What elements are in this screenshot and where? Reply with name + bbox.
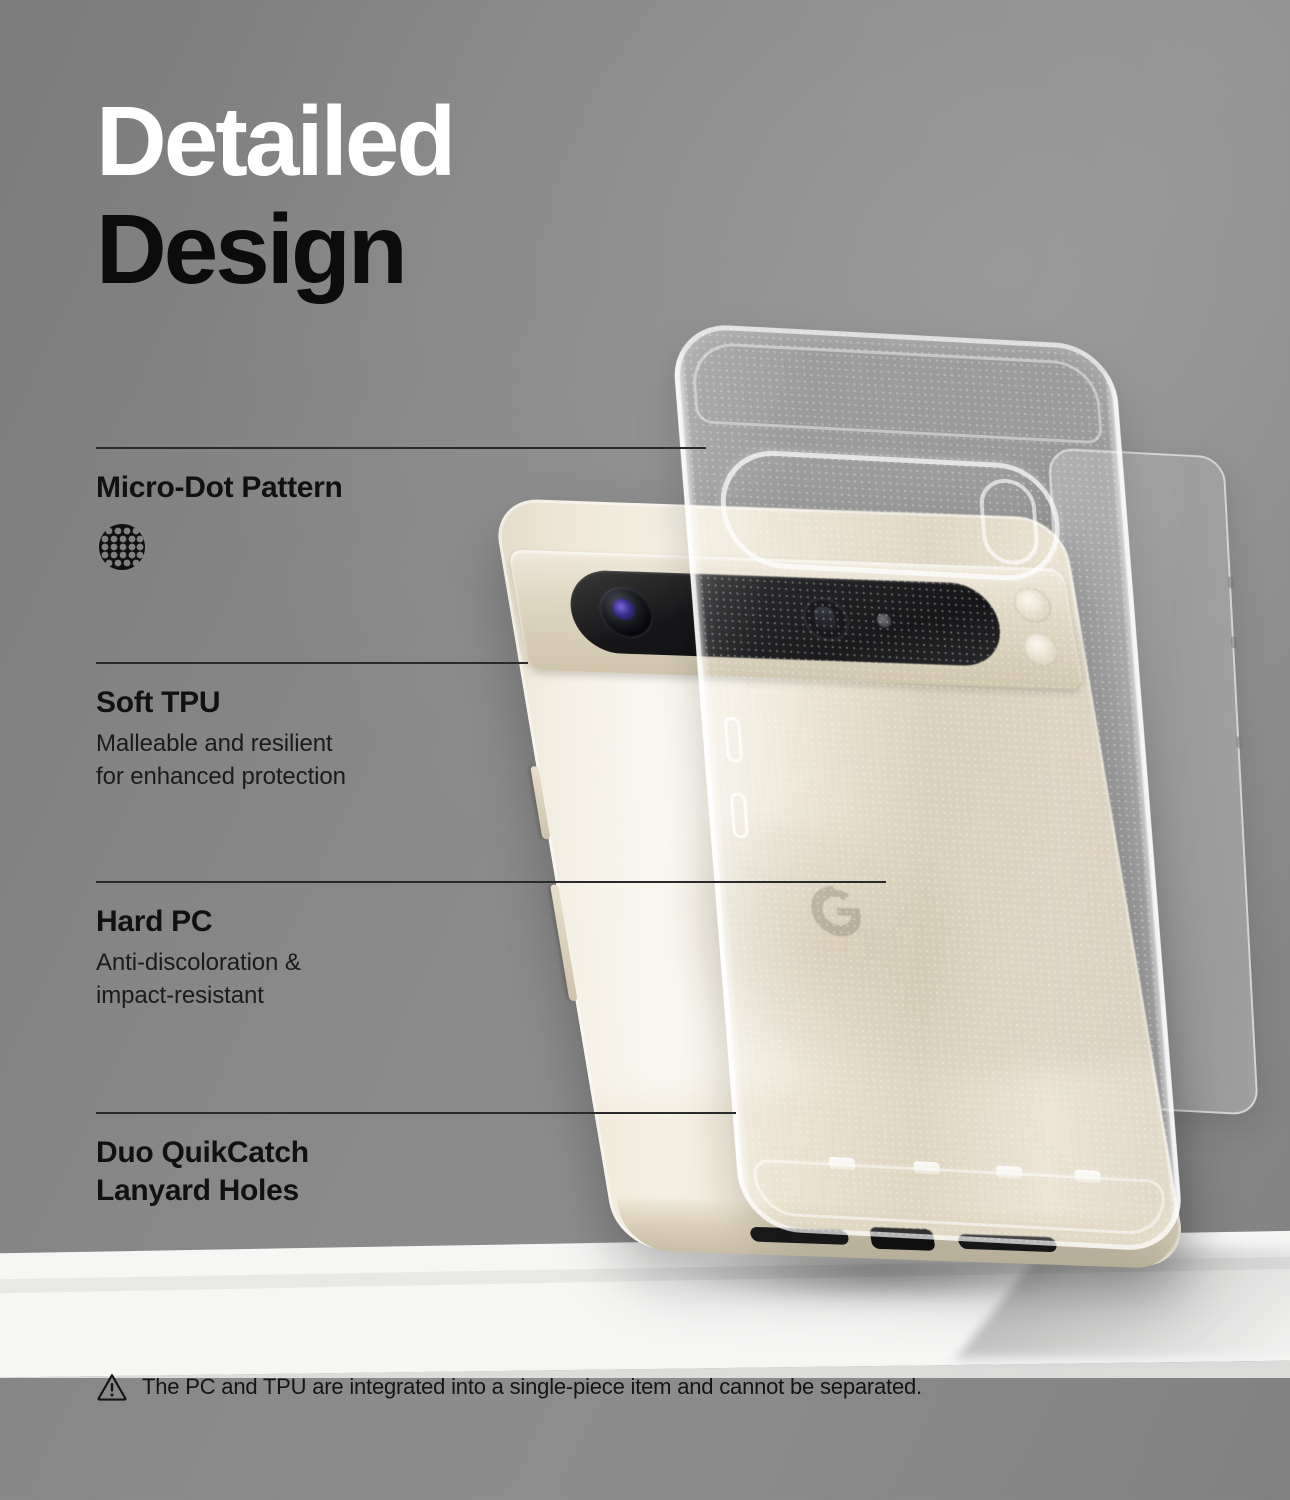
footer-note-text: The PC and TPU are integrated into a sin… [142, 1374, 922, 1400]
case-clip [913, 1161, 940, 1174]
page-title: Detailed Design [96, 92, 453, 301]
case-clip [996, 1165, 1023, 1178]
headline-line-2: Design [96, 198, 453, 301]
callout-soft-tpu: Soft TPU Malleable and resilient for enh… [96, 662, 346, 794]
callout-title: Soft TPU [96, 684, 346, 722]
clear-case-front-shell [670, 322, 1185, 1252]
callout-description: Malleable and resilient for enhanced pro… [96, 728, 346, 793]
callout-leader-line [96, 447, 706, 449]
callout-leader-line [96, 1112, 736, 1114]
callout-description: Anti-discoloration & impact-resistant [96, 947, 301, 1012]
case-lens-slot [978, 477, 1041, 566]
callout-leader-line [96, 662, 528, 664]
headline-line-1: Detailed [96, 92, 453, 190]
callout-leader-line [96, 881, 886, 883]
callout-title: Micro-Dot Pattern [96, 469, 343, 507]
case-camera-cutout [716, 448, 1064, 583]
case-clip [828, 1157, 855, 1170]
callout-micro-dot-pattern: Micro-Dot Pattern [96, 447, 343, 573]
case-clip [1074, 1170, 1101, 1183]
micro-dot-grid-icon [96, 521, 148, 573]
warning-triangle-icon [96, 1372, 128, 1402]
case-notch-top [1228, 576, 1235, 588]
callout-title: Duo QuikCatch Lanyard Holes [96, 1134, 309, 1211]
footer-disclaimer: The PC and TPU are integrated into a sin… [96, 1372, 922, 1402]
product-feature-scene: Detailed Design Micro-Dot Pattern [0, 0, 1290, 1500]
case-notch-low [1236, 736, 1243, 748]
callout-title: Hard PC [96, 903, 301, 941]
case-notch-mid [1231, 636, 1238, 648]
camera-lens-main [595, 586, 657, 639]
callout-hard-pc: Hard PC Anti-discoloration & impact-resi… [96, 881, 301, 1013]
callout-duo-quikcatch-lanyard-holes: Duo QuikCatch Lanyard Holes [96, 1112, 309, 1211]
